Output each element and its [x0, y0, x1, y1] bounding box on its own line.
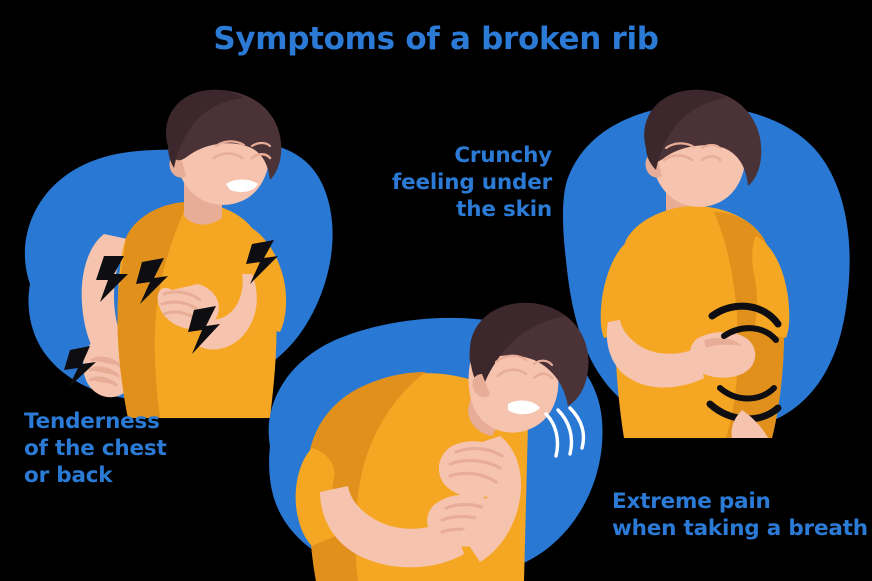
illustration-extreme-pain-breath: [256, 296, 616, 581]
infographic-canvas: Symptoms of a broken rib: [0, 0, 872, 581]
caption-crunchy-feeling: Crunchy feeling under the skin: [362, 142, 552, 223]
page-title: Symptoms of a broken rib: [0, 22, 872, 56]
caption-extreme-pain: Extreme pain when taking a breath: [612, 488, 872, 542]
caption-tenderness: Tenderness of the chest or back: [24, 408, 254, 489]
